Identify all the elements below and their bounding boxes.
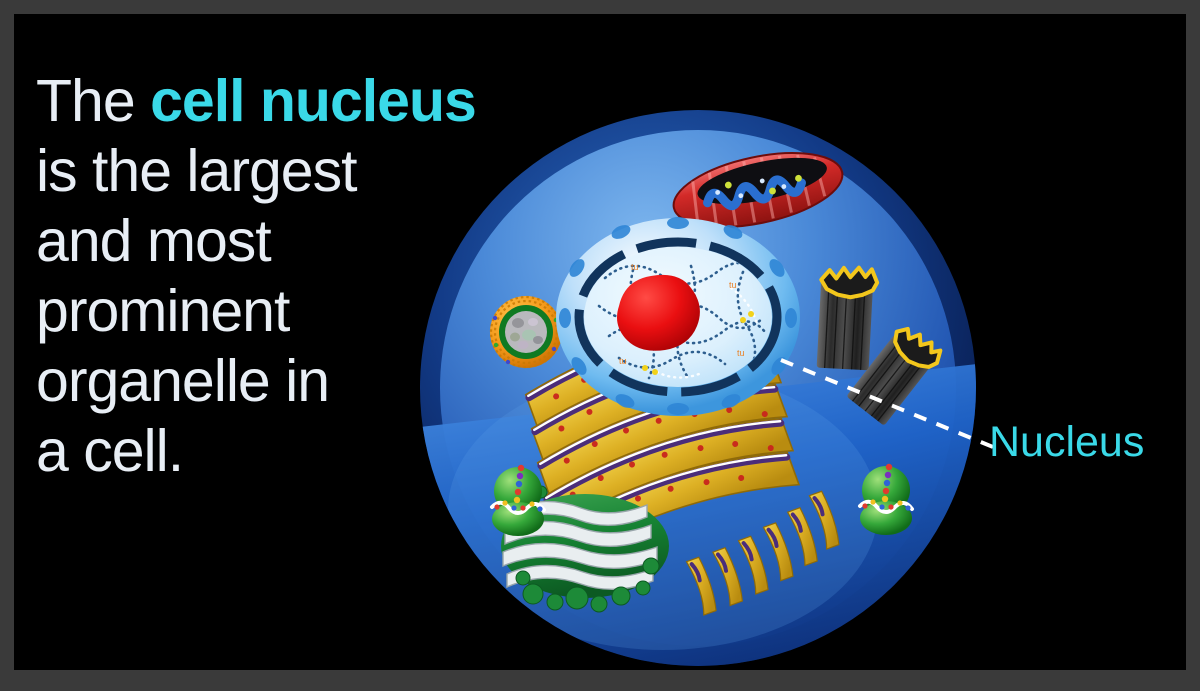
caption-line-6: a cell.	[36, 416, 436, 486]
caption-line-5: organelle in	[36, 346, 436, 416]
cell-diagram: tutu tutu	[413, 110, 993, 670]
caption-text: The cell nucleus is the largest and most…	[36, 66, 436, 486]
svg-text:tu: tu	[729, 280, 737, 290]
caption-line-4: prominent	[36, 276, 436, 346]
caption-line-1-prefix: The	[36, 68, 150, 134]
lysosome	[490, 296, 562, 368]
caption-line-3: and most	[36, 206, 436, 276]
ribosome-left	[492, 465, 544, 536]
slide-stage: The cell nucleus is the largest and most…	[14, 14, 1186, 670]
svg-text:tu: tu	[737, 348, 745, 358]
image-frame: The cell nucleus is the largest and most…	[0, 0, 1200, 691]
nucleus: tutu tutu	[556, 217, 800, 416]
svg-text:tu: tu	[631, 262, 639, 272]
nucleus-callout-label: Nucleus	[989, 418, 1144, 467]
ribosome-right	[860, 464, 912, 535]
caption-line-1: The cell nucleus	[36, 66, 436, 136]
nucleolus	[617, 275, 700, 351]
svg-text:tu: tu	[619, 356, 627, 366]
caption-line-2: is the largest	[36, 136, 436, 206]
